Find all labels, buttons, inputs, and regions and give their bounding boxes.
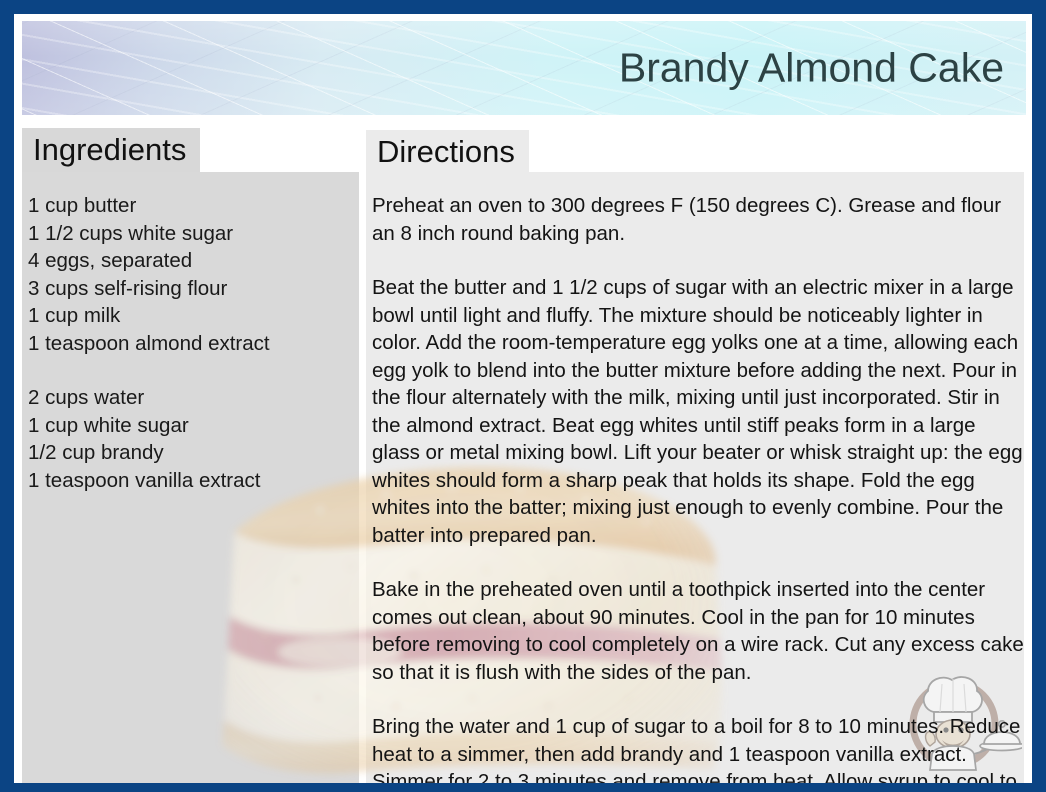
ingredient-item: 2 cups water xyxy=(28,384,353,412)
ingredient-item: 1 cup butter xyxy=(28,192,353,220)
directions-text: Preheat an oven to 300 degrees F (150 de… xyxy=(372,192,1027,783)
ingredients-list: 1 cup butter1 1/2 cups white sugar4 eggs… xyxy=(28,192,353,494)
recipe-page: Brandy Almond Cake xyxy=(14,14,1032,783)
direction-paragraph: Beat the butter and 1 1/2 cups of sugar … xyxy=(372,274,1027,549)
ingredient-item: 1 1/2 cups white sugar xyxy=(28,220,353,248)
page-title: Brandy Almond Cake xyxy=(619,45,1004,92)
ingredient-item: 4 eggs, separated xyxy=(28,247,353,275)
direction-paragraph: Bake in the preheated oven until a tooth… xyxy=(372,576,1027,686)
ingredient-item: 3 cups self-rising flour xyxy=(28,275,353,303)
ingredient-item: 1/2 cup brandy xyxy=(28,439,353,467)
section-heading-directions: Directions xyxy=(366,130,529,174)
ingredient-group-separator xyxy=(28,357,353,384)
ingredient-item: 1 teaspoon vanilla extract xyxy=(28,467,353,495)
section-heading-ingredients: Ingredients xyxy=(22,128,200,172)
ingredient-item: 1 teaspoon almond extract xyxy=(28,330,353,358)
direction-paragraph: Preheat an oven to 300 degrees F (150 de… xyxy=(372,192,1027,247)
direction-paragraph: Bring the water and 1 cup of sugar to a … xyxy=(372,713,1027,783)
ingredient-item: 1 cup milk xyxy=(28,302,353,330)
ingredient-item: 1 cup white sugar xyxy=(28,412,353,440)
page-banner: Brandy Almond Cake xyxy=(22,21,1026,115)
